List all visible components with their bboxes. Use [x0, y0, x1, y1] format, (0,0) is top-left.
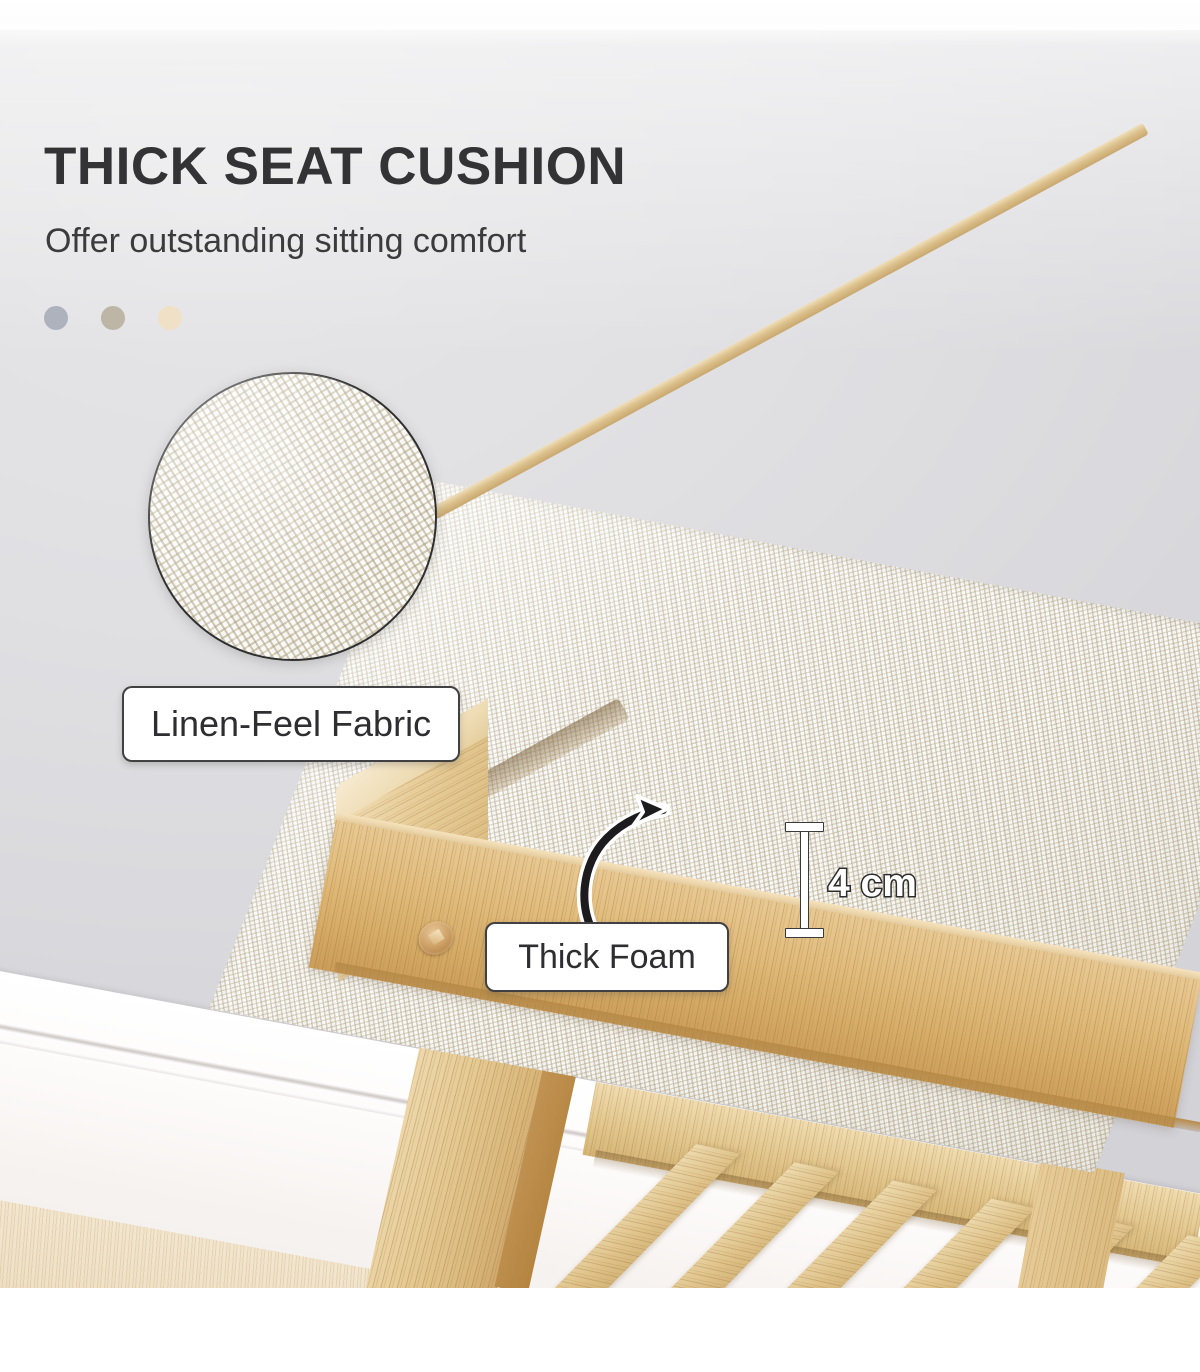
- product-feature-image: THICK SEAT CUSHION Offer outstanding sit…: [0, 0, 1200, 1372]
- page-subtitle: Offer outstanding sitting comfort: [45, 222, 526, 261]
- curved-arrow-icon: [555, 790, 685, 940]
- callout-linen-feel-fabric: Linen-Feel Fabric: [122, 686, 460, 762]
- dimension-marker: [783, 820, 823, 940]
- dimension-bar: [800, 828, 809, 932]
- color-dot-grey-blue: [44, 306, 68, 330]
- dimension-cap-top: [785, 822, 824, 832]
- dimension-label: 4 cm: [828, 862, 917, 906]
- callout-thick-foam: Thick Foam: [485, 922, 729, 992]
- color-dot-cream: [158, 306, 182, 330]
- bottom-margin: [0, 1288, 1200, 1372]
- dimension-cap-bottom: [785, 928, 824, 938]
- page-title: THICK SEAT CUSHION: [44, 139, 626, 195]
- color-dot-taupe: [101, 306, 125, 330]
- color-swatch-dots: [44, 306, 182, 330]
- fabric-closeup-circle: [148, 372, 437, 661]
